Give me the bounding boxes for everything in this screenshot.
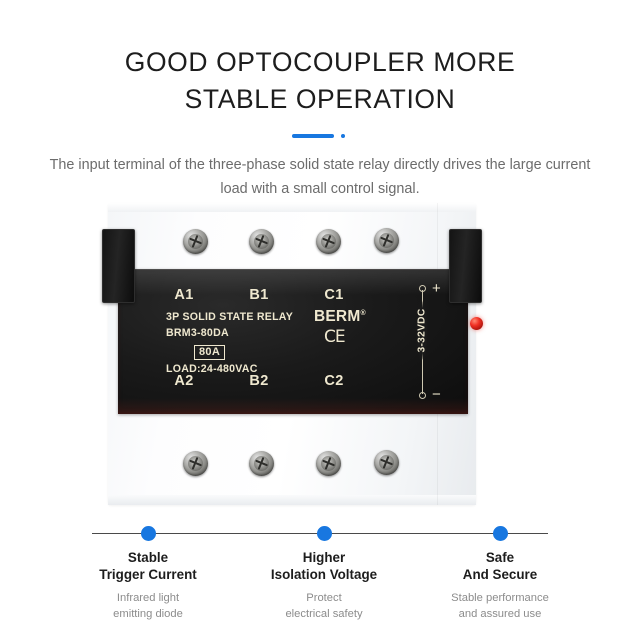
- feature-title: Stable Trigger Current: [58, 549, 238, 583]
- solid-state-relay: A1 B1 C1 A2 B2 C2 3P SOLID STATE RELAY B…: [108, 203, 476, 505]
- screw-terminal-top-1: [183, 229, 208, 254]
- polarity-plus-icon: +: [432, 284, 441, 294]
- control-voltage-label: 3-32VDC: [417, 302, 428, 360]
- title-divider: [292, 131, 348, 141]
- terminal-label-b2: B2: [241, 373, 277, 389]
- terminal-label-c1: C1: [316, 287, 352, 303]
- dc-terminal-positive-node: [419, 285, 426, 292]
- mounting-tab-left: [102, 229, 135, 303]
- page-title: GOOD OPTOCOUPLER MORE STABLE OPERATION: [0, 0, 640, 118]
- terminal-label-b1: B1: [241, 287, 277, 303]
- product-type-line: 3P SOLID STATE RELAY: [166, 311, 293, 323]
- screw-slot-icon: [188, 234, 203, 249]
- screw-terminal-bottom-3: [316, 451, 341, 476]
- housing-bottom-edge: [108, 495, 476, 505]
- screw-slot-icon: [254, 234, 269, 249]
- mounting-tab-right: [449, 229, 482, 303]
- feature-item-3: Safe And Secure Stable performance and a…: [410, 519, 590, 622]
- feature-description: Infrared light emitting diode: [58, 590, 238, 622]
- feature-dot-icon: [317, 526, 332, 541]
- status-led-indicator: [470, 317, 483, 330]
- screw-slot-icon: [321, 234, 336, 249]
- hero-section: GOOD OPTOCOUPLER MORE STABLE OPERATION T…: [0, 0, 640, 201]
- product-image: A1 B1 C1 A2 B2 C2 3P SOLID STATE RELAY B…: [0, 196, 640, 511]
- screw-slot-icon: [188, 456, 203, 471]
- feature-description: Stable performance and assured use: [410, 590, 590, 622]
- terminal-label-a1: A1: [166, 287, 202, 303]
- feature-item-1: Stable Trigger Current Infrared light em…: [58, 519, 238, 622]
- load-rating-line: LOAD:24-480VAC: [166, 363, 258, 375]
- feature-title: Higher Isolation Voltage: [234, 549, 414, 583]
- terminal-label-c2: C2: [316, 373, 352, 389]
- polarity-minus-icon: −: [432, 390, 441, 400]
- brand-logo: BERM®: [314, 308, 366, 326]
- trademark-icon: ®: [360, 310, 365, 317]
- brand-name: BERM: [314, 308, 360, 325]
- product-model: BRM3-80DA: [166, 327, 229, 339]
- current-rating-badge: 80A: [194, 342, 225, 360]
- current-rating-value: 80A: [194, 345, 225, 360]
- housing-top-edge: [108, 203, 476, 212]
- screw-slot-icon: [254, 456, 269, 471]
- divider-dot: [341, 134, 345, 138]
- feature-title: Safe And Secure: [410, 549, 590, 583]
- dc-input-rail: + − 3-32VDC: [415, 283, 449, 401]
- screw-terminal-bottom-1: [183, 451, 208, 476]
- screw-terminal-bottom-2: [249, 451, 274, 476]
- screw-terminal-top-3: [316, 229, 341, 254]
- dc-terminal-negative-node: [419, 392, 426, 399]
- screw-terminal-bottom-4: [374, 450, 399, 475]
- feature-item-2: Higher Isolation Voltage Protect electri…: [234, 519, 414, 622]
- feature-description: Protect electrical safety: [234, 590, 414, 622]
- screw-slot-icon: [379, 233, 394, 248]
- feature-dot-icon: [141, 526, 156, 541]
- screw-slot-icon: [379, 455, 394, 470]
- screw-terminal-top-4: [374, 228, 399, 253]
- screw-terminal-top-2: [249, 229, 274, 254]
- divider-bar: [292, 134, 334, 138]
- hero-subtitle: The input terminal of the three-phase so…: [48, 153, 593, 201]
- feature-dot-icon: [493, 526, 508, 541]
- ce-mark-icon: CE: [324, 327, 345, 347]
- features-section: Stable Trigger Current Infrared light em…: [0, 519, 640, 640]
- terminal-label-a2: A2: [166, 373, 202, 389]
- relay-faceplate: A1 B1 C1 A2 B2 C2 3P SOLID STATE RELAY B…: [118, 269, 468, 414]
- screw-slot-icon: [321, 456, 336, 471]
